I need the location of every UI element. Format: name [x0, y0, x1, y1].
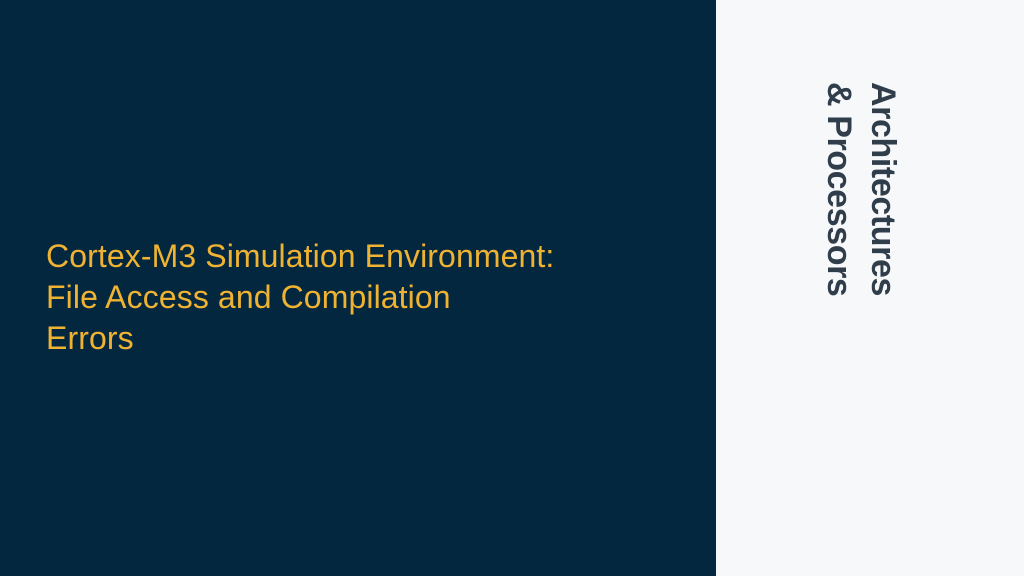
- sidebar-label-line-2: & Processors: [822, 82, 856, 296]
- title-block: Cortex-M3 Simulation Environment: File A…: [46, 236, 696, 359]
- slide-canvas: Cortex-M3 Simulation Environment: File A…: [0, 0, 1024, 576]
- sidebar-label-line-1: Architectures: [866, 82, 900, 296]
- page-title: Cortex-M3 Simulation Environment: File A…: [46, 236, 696, 359]
- sidebar-vertical-label: Architectures & Processors: [716, 0, 1024, 576]
